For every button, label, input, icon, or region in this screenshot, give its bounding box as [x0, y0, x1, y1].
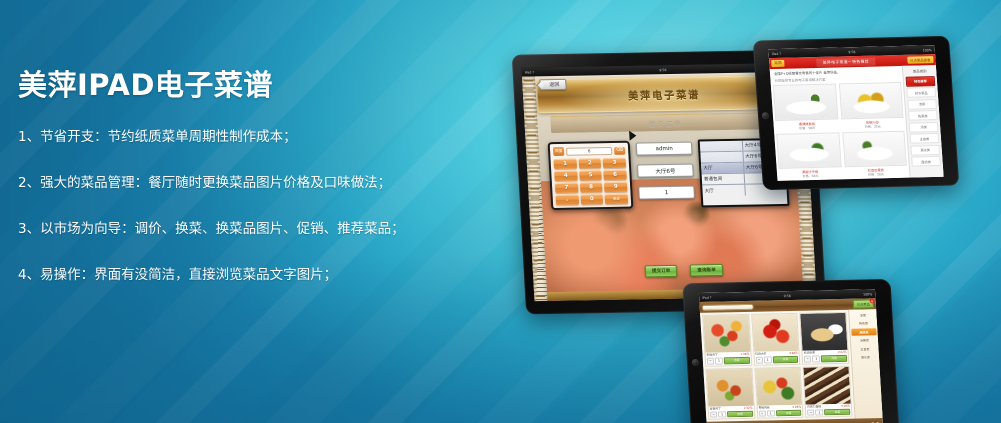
app-subtitle-banner: 提交订单: [550, 112, 781, 133]
order-category-staple[interactable]: 主食类: [852, 345, 877, 353]
order-category-specialty[interactable]: 特色菜: [851, 320, 876, 328]
order-body: 彩椒鸡丁 ￥38元 − 1 点菜: [700, 309, 883, 421]
action-buttons: 提交订单 查询账单: [645, 264, 723, 277]
order-dish-card[interactable]: 红烧大虾 ￥68元 − 1 点菜: [751, 313, 801, 365]
dish-image: [773, 84, 838, 121]
category-item-featured[interactable]: 特色推荐: [906, 76, 936, 87]
order-category-soup[interactable]: 汤羹类: [852, 337, 877, 345]
dish-price: 价格：32元: [841, 123, 904, 129]
table-field[interactable]: 大厅6号: [637, 164, 694, 178]
feature-item-2: 2、强大的菜品管理：餐厅随时更换菜品图片价格及口味做法；: [18, 174, 458, 193]
menu-title: 美萍电子菜谱－特色推荐: [816, 57, 875, 66]
order-category-cold[interactable]: 凉菜: [850, 311, 875, 319]
keypad-key-6[interactable]: 6: [604, 170, 627, 180]
tablet-bezel: iPad ? 9:58 100% 返回 美萍电子菜谱－特色推荐 已点菜品查看 全…: [753, 36, 960, 190]
dish-image: [706, 368, 753, 406]
page-title: 美萍IPAD电子菜谱: [18, 70, 458, 102]
dish-grid: 香辣烤鱼排 价格：58元 彩椒小炒 价格：32元: [773, 82, 908, 179]
keypad-key-4[interactable]: 4: [554, 171, 577, 181]
app-subtitle: 提交订单: [648, 118, 683, 129]
menu-body: 全国P+Q经营餐饮零售的十佳片 美萍科技, 为您提供专业的电子菜谱解决方案 香辣…: [770, 65, 944, 181]
backspace-icon[interactable]: ⌫: [614, 146, 625, 154]
add-to-order-button[interactable]: 点菜: [724, 357, 750, 364]
decrement-button[interactable]: −: [710, 411, 717, 418]
submit-order-button[interactable]: 提交订单: [645, 265, 678, 278]
dish-area: 全国P+Q经营餐饮零售的十佳片 美萍科技, 为您提供专业的电子菜谱解决方案 香辣…: [770, 66, 910, 181]
dish-image: [801, 313, 848, 351]
keypad-display: 数量 6 ⌫: [553, 146, 626, 156]
decrement-button[interactable]: −: [707, 358, 714, 365]
dish-image: [804, 366, 851, 404]
quantity-value[interactable]: 1: [715, 357, 723, 364]
add-to-order-button[interactable]: 点菜: [824, 408, 850, 415]
keypad-value-field[interactable]: 6: [566, 147, 612, 156]
order-dish-card[interactable]: 巧克力蛋糕 ￥18元 − 1 点菜: [803, 365, 853, 417]
order-dish-card[interactable]: 宫保鸡丁 ￥32元 − 1 点菜: [705, 367, 755, 419]
numeric-keypad[interactable]: 数量 6 ⌫ 1 2 3 4 5 6: [548, 141, 634, 210]
category-item-dessert[interactable]: 甜点类: [911, 156, 941, 167]
dish-price: 价格：68元: [779, 173, 842, 179]
quantity-value[interactable]: 1: [718, 411, 726, 418]
order-category-drinks[interactable]: 酒水类: [853, 354, 878, 362]
dish-controls: − 1 点菜: [754, 355, 799, 364]
status-clock: 9:58: [659, 68, 666, 72]
query-bill-button[interactable]: 查询账单: [690, 264, 723, 277]
order-dish-card[interactable]: 青椒肉丝 ￥28元 − 1 点菜: [754, 366, 804, 418]
keypad-key-9[interactable]: 9: [604, 182, 627, 192]
app-title: 美萍电子菜谱: [628, 86, 701, 102]
feature-item-1: 1、节省开支：节约纸质菜单周期性制作成本；: [18, 128, 458, 147]
status-carrier: iPad ?: [772, 51, 782, 55]
keypad-key-2[interactable]: 2: [578, 158, 601, 168]
category-item-hot[interactable]: 热菜类: [908, 110, 938, 121]
decrement-button[interactable]: −: [759, 410, 766, 417]
quantity-value[interactable]: 1: [812, 355, 820, 362]
keypad-label: 数量: [553, 147, 565, 156]
dish-image: [752, 314, 799, 352]
order-category-hot[interactable]: 热菜类: [851, 328, 876, 336]
keypad-grid: 1 2 3 4 5 6 7 8 9 .: [554, 158, 629, 205]
cart-count-badge: 6: [869, 298, 874, 303]
back-button[interactable]: 返回: [539, 79, 567, 90]
quantity-value[interactable]: 1: [767, 410, 775, 417]
dish-controls: − 1 点菜: [706, 356, 751, 365]
login-widgets: 数量 6 ⌫ 1 2 3 4 5 6: [548, 138, 790, 210]
order-dish-grid: 彩椒鸡丁 ￥38元 − 1 点菜: [700, 310, 855, 422]
dish-image: [838, 82, 903, 119]
top-tablet-device: iPad ? 9:58 100% 返回 美萍电子菜谱－特色推荐 已点菜品查看 全…: [753, 36, 960, 190]
order-category-sidebar: 凉菜 特色菜 热菜类 汤羹类 主食类 酒水类: [848, 309, 882, 418]
keypad-key-0[interactable]: 0: [580, 194, 603, 204]
user-field[interactable]: admin: [636, 142, 693, 156]
dish-image: [776, 132, 841, 169]
category-item-soup[interactable]: 汤类: [909, 121, 939, 132]
login-fields: admin 大厅6号 1: [636, 140, 696, 209]
dish-image: [703, 315, 750, 353]
category-item-drinks[interactable]: 酒水类: [910, 144, 940, 155]
keypad-key-3[interactable]: 3: [603, 158, 626, 168]
feature-list: 1、节省开支：节约纸质菜单周期性制作成本； 2、强大的菜品管理：餐厅随时更换菜品…: [18, 128, 458, 285]
decrement-button[interactable]: −: [807, 409, 814, 416]
table-area-cell: 大厅: [701, 163, 744, 174]
keypad-key-8[interactable]: 8: [580, 182, 603, 192]
keypad-key-dot[interactable]: .: [556, 195, 579, 205]
status-battery: 100%: [863, 292, 872, 296]
add-to-order-button[interactable]: 点菜: [772, 356, 798, 363]
keypad-key-confirm[interactable]: 确定: [605, 194, 628, 204]
order-app: iPad ? 9:58 100% 已点菜品 6: [699, 289, 883, 423]
dish-controls: − 1 点菜: [806, 407, 851, 416]
dish-card[interactable]: 彩椒小炒 价格：32元: [838, 82, 904, 129]
table-area-cell: [700, 152, 743, 163]
bottom-tablet-device: iPad ? 9:58 100% 已点菜品 6: [682, 279, 899, 423]
dish-card[interactable]: 黑椒汁牛柳 价格：68元: [776, 132, 842, 179]
quantity-value[interactable]: 1: [763, 356, 771, 363]
decrement-button[interactable]: −: [755, 357, 762, 364]
dish-card[interactable]: 红豆芒果捞 价格：26元: [842, 130, 908, 177]
table-area-cell: 普通包间: [702, 174, 745, 185]
status-carrier: iPad ?: [525, 70, 535, 74]
app-title-banner: 美萍电子菜谱: [536, 75, 792, 113]
keypad-key-7[interactable]: 7: [555, 183, 578, 193]
add-to-order-button[interactable]: 点菜: [776, 409, 802, 416]
category-item-staple[interactable]: 主食类: [910, 133, 940, 144]
category-item-seasonal[interactable]: 时令菜品: [906, 87, 936, 98]
dish-controls: − 1 点菜: [803, 354, 848, 363]
dish-controls: − 1 点菜: [758, 408, 803, 417]
status-battery: 100%: [922, 48, 931, 52]
decrement-button[interactable]: −: [804, 356, 811, 363]
count-field[interactable]: 1: [638, 186, 695, 200]
quantity-value[interactable]: 1: [815, 409, 823, 416]
cart-button-label: 已点菜品: [857, 302, 870, 306]
view-cart-button[interactable]: 已点菜品查看: [907, 56, 934, 64]
order-dish-card[interactable]: 彩椒鸡丁 ￥38元 − 1 点菜: [702, 314, 752, 366]
search-input[interactable]: [702, 303, 754, 310]
status-carrier: iPad ?: [702, 295, 712, 299]
home-button[interactable]: [692, 358, 699, 365]
feature-item-4: 4、易操作：界面有没简洁，直接浏览菜品文字图片；: [18, 266, 458, 285]
category-sidebar: 菜品类别 特色推荐 时令菜品 凉菜 热菜类 汤类 主食类 酒水类 甜点类: [902, 65, 944, 178]
marketing-copy: 美萍IPAD电子菜谱 1、节省开支：节约纸质菜单周期性制作成本； 2、强大的菜品…: [18, 70, 458, 311]
feature-item-3: 3、以市场为向导：调价、换菜、换菜品图片、促销、推荐菜品；: [18, 220, 458, 239]
table-area-cell: 大厅: [702, 185, 745, 197]
category-item-cold[interactable]: 凉菜: [907, 99, 937, 110]
dish-price: 价格：26元: [845, 172, 908, 178]
dish-price: 价格：58元: [776, 125, 839, 131]
add-to-order-button[interactable]: 点菜: [727, 410, 753, 417]
dish-card[interactable]: 香辣烤鱼排 价格：58元: [773, 84, 839, 131]
order-dish-card[interactable]: 奶油泡芙 ￥22元 − 1 点菜: [800, 312, 850, 364]
add-to-order-button[interactable]: 点菜: [821, 355, 847, 362]
keypad-key-5[interactable]: 5: [579, 170, 602, 180]
status-clock: 9:58: [848, 50, 855, 54]
status-clock: 9:58: [784, 294, 791, 298]
dish-image: [755, 367, 802, 405]
cart-button[interactable]: 已点菜品 6: [853, 299, 874, 308]
menu-browser-app: iPad ? 9:58 100% 返回 美萍电子菜谱－特色推荐 已点菜品查看 全…: [768, 45, 943, 181]
tablet-bezel: iPad ? 9:58 100% 已点菜品 6: [682, 279, 899, 423]
keypad-key-1[interactable]: 1: [554, 159, 577, 169]
top-tablet-screen: iPad ? 9:58 100% 返回 美萍电子菜谱－特色推荐 已点菜品查看 全…: [768, 45, 943, 181]
dish-controls: − 1 点菜: [709, 409, 754, 418]
promo-banner: 美萍IPAD电子菜谱 1、节省开支：节约纸质菜单周期性制作成本； 2、强大的菜品…: [0, 0, 1001, 423]
pointer-arrow-icon: [629, 131, 637, 141]
dish-image: [842, 130, 907, 167]
back-button[interactable]: 返回: [771, 60, 785, 67]
bottom-tablet-screen: iPad ? 9:58 100% 已点菜品 6: [699, 289, 883, 423]
category-header: 菜品类别: [905, 67, 935, 75]
table-area-cell: [700, 141, 743, 152]
home-button[interactable]: [762, 112, 769, 119]
